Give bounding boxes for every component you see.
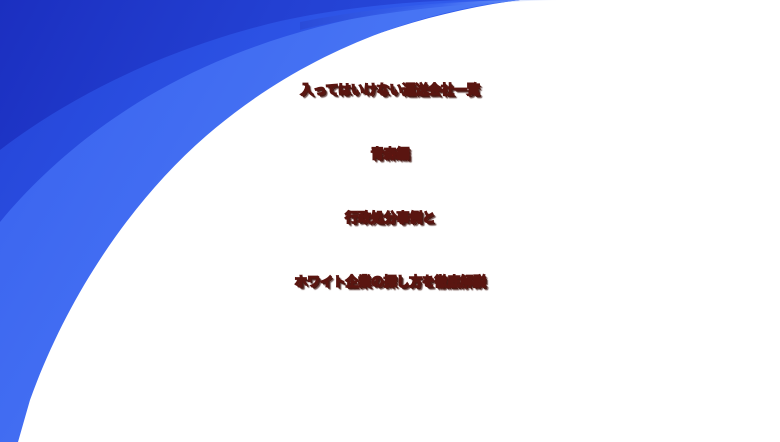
swoosh-svg xyxy=(0,0,780,442)
thumbnail-canvas: 入ってはいけない運送会社一覧 青森編 行政処分事例と ホワイト企業の探し方を徹底… xyxy=(0,0,780,442)
background-swoosh xyxy=(0,0,780,442)
